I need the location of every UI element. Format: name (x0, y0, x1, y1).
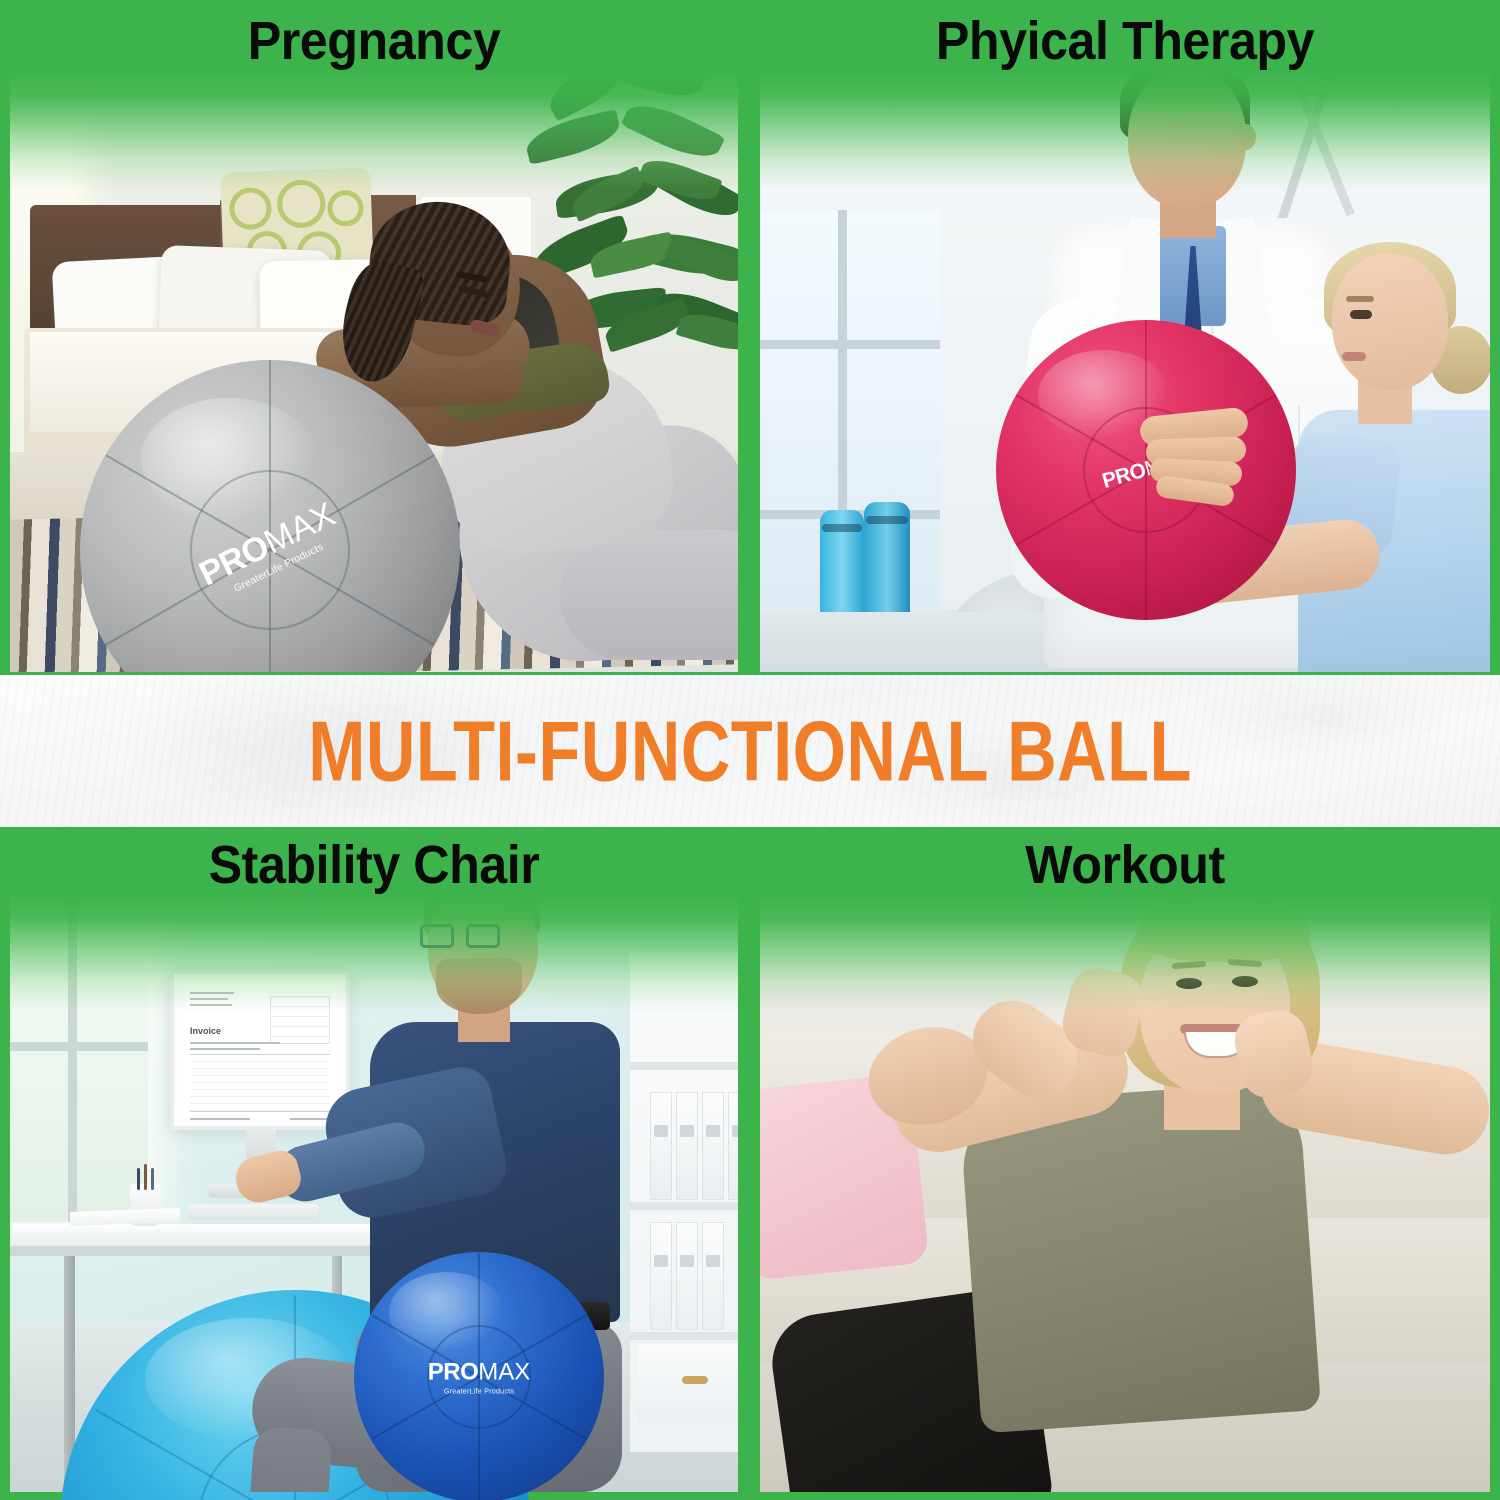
invoice-table (190, 1054, 330, 1112)
panel-label-physical-therapy: Phyical Therapy (786, 14, 1465, 68)
promax-logo: PROMAX GreaterLife Products (428, 1358, 531, 1395)
keyboard (188, 1204, 318, 1220)
center-banner: MULTI-FUNCTIONAL BALL (0, 675, 1500, 827)
panel-pregnancy: PROMAX GreaterLife Products Pregnancy (10, 10, 738, 672)
living-room-scene (760, 832, 1490, 1492)
exercise-ball-pink: PROMAX (996, 320, 1296, 620)
monitor-document: Invoice (182, 982, 338, 1118)
panel-physical-therapy: PROMAX (760, 10, 1490, 672)
invoice-meta-box (270, 996, 330, 1044)
eyeglasses (420, 924, 504, 948)
office-window (10, 892, 148, 1222)
panel-workout: Workout (760, 832, 1490, 1492)
invoice-heading: Invoice (190, 1026, 221, 1036)
computer-monitor: Invoice (170, 970, 350, 1130)
infographic-board: PROMAX GreaterLife Products Pregnancy (0, 0, 1500, 1500)
panel-label-workout: Workout (786, 838, 1465, 892)
exercise-ball-blue: PROMAX GreaterLife Products (354, 1252, 604, 1500)
panel-label-stability-chair: Stability Chair (35, 838, 712, 892)
patient (1280, 240, 1490, 672)
logo-tagline: GreaterLife Products (428, 1387, 531, 1396)
banner-headline: MULTI-FUNCTIONAL BALL (308, 701, 1192, 801)
logo-pro: PRO (428, 1358, 479, 1386)
clinic-scene: PROMAX (760, 10, 1490, 672)
logo-max: MAX (478, 1358, 530, 1386)
pregnancy-scene: PROMAX GreaterLife Products (10, 10, 738, 672)
panel-label-pregnancy: Pregnancy (35, 14, 712, 68)
exercising-woman (820, 862, 1440, 1482)
